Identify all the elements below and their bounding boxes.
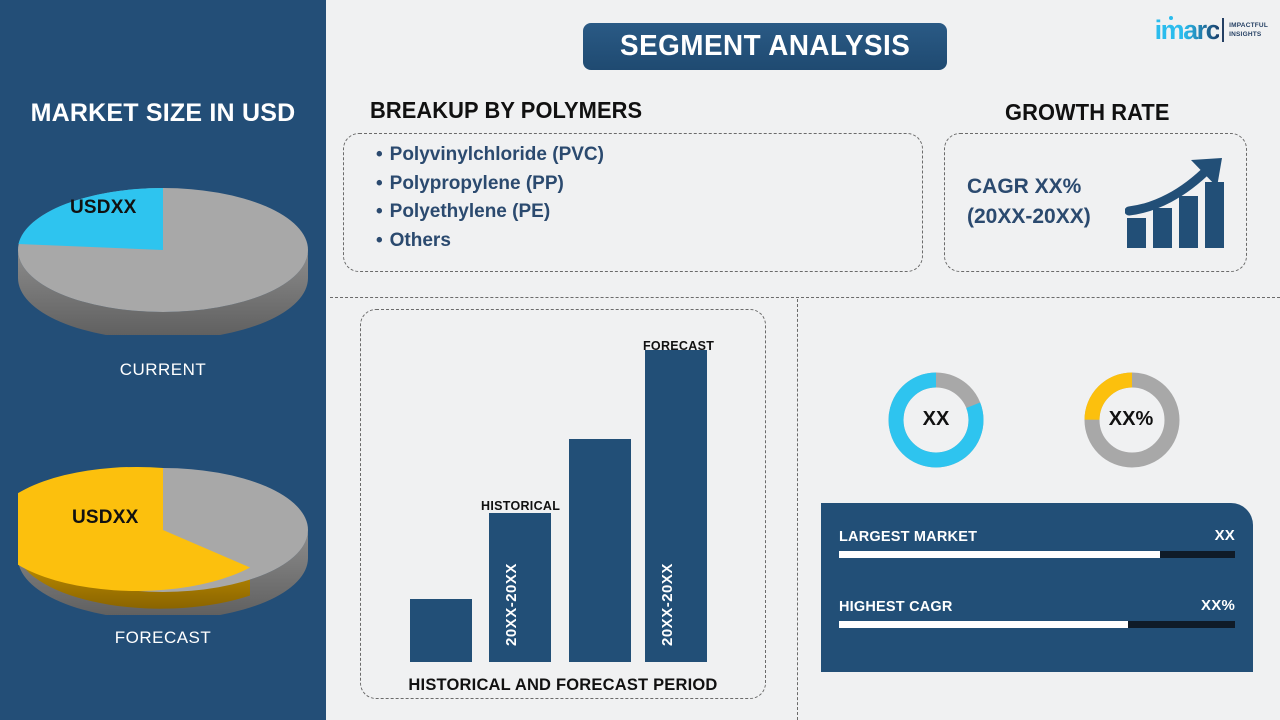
cagr-line-1: CAGR XX% bbox=[967, 172, 1091, 202]
list-item: Others bbox=[376, 227, 604, 256]
bar-2: 20XX-20XX bbox=[489, 513, 551, 662]
list-item: Polyethylene (PE) bbox=[376, 198, 604, 227]
cagr-text: CAGR XX% (20XX-20XX) bbox=[967, 172, 1091, 232]
bar-1 bbox=[410, 599, 472, 662]
current-pie-chart bbox=[18, 160, 308, 335]
forecast-pie-svg bbox=[18, 440, 308, 615]
growth-rate-box: CAGR XX% (20XX-20XX) bbox=[944, 133, 1247, 272]
vertical-divider bbox=[797, 299, 798, 720]
largest-market-progress-fill bbox=[839, 551, 1160, 558]
largest-market-label: LARGEST MARKET bbox=[839, 529, 977, 545]
polymers-heading: BREAKUP BY POLYMERS bbox=[370, 97, 642, 124]
bar-4-label: 20XX-20XX bbox=[659, 563, 676, 646]
highest-cagr-donut-value: XX% bbox=[1086, 408, 1176, 431]
logo-wordmark: imarc bbox=[1155, 15, 1220, 45]
polymers-box: Polyvinylchloride (PVC) Polypropylene (P… bbox=[343, 133, 923, 272]
cagr-line-2: (20XX-20XX) bbox=[967, 202, 1091, 232]
current-pie-svg bbox=[18, 160, 308, 335]
page-title: SEGMENT ANALYSIS bbox=[620, 30, 910, 63]
sidebar-title: MARKET SIZE IN USD bbox=[0, 99, 326, 128]
imarc-logo: imarc IMPACTFUL INSIGHTS bbox=[1155, 12, 1268, 48]
infographic-root: MARKET SIZE IN USD USDXX CURRENT bbox=[0, 0, 1280, 720]
growth-icon-svg bbox=[1125, 156, 1230, 251]
growth-rate-heading: GROWTH RATE bbox=[1005, 99, 1169, 126]
current-pie-value: USDXX bbox=[70, 197, 136, 219]
current-pie-label: CURRENT bbox=[0, 360, 326, 380]
list-item: Polypropylene (PP) bbox=[376, 170, 604, 199]
logo-tagline-line1: IMPACTFUL bbox=[1229, 21, 1268, 30]
logo-tagline: IMPACTFUL INSIGHTS bbox=[1229, 21, 1268, 39]
horizontal-divider bbox=[330, 297, 1280, 298]
bar-4: 20XX-20XX bbox=[645, 350, 707, 662]
logo-dot-icon bbox=[1169, 16, 1173, 20]
logo-divider bbox=[1222, 18, 1224, 42]
historical-annotation: HISTORICAL bbox=[481, 499, 560, 513]
largest-market-progress-track bbox=[839, 551, 1235, 558]
highest-cagr-value: XX% bbox=[1201, 597, 1235, 614]
sidebar: MARKET SIZE IN USD USDXX CURRENT bbox=[0, 0, 326, 720]
stats-panel: LARGEST MARKET XX HIGHEST CAGR XX% bbox=[821, 503, 1253, 672]
highest-cagr-progress-track bbox=[839, 621, 1235, 628]
forecast-pie-chart bbox=[18, 440, 308, 615]
page-title-banner: SEGMENT ANALYSIS bbox=[583, 23, 947, 70]
list-item: Polyvinylchloride (PVC) bbox=[376, 141, 604, 170]
barchart-caption: HISTORICAL AND FORECAST PERIOD bbox=[360, 676, 766, 695]
growth-arrow-chart-icon bbox=[1125, 156, 1230, 256]
forecast-annotation: FORECAST bbox=[643, 339, 714, 353]
polymers-list: Polyvinylchloride (PVC) Polypropylene (P… bbox=[376, 141, 604, 255]
highest-cagr-progress-fill bbox=[839, 621, 1128, 628]
bar-3 bbox=[569, 439, 631, 662]
largest-market-donut-value: XX bbox=[891, 408, 981, 431]
highest-cagr-label: HIGHEST CAGR bbox=[839, 599, 953, 615]
historical-forecast-barchart: 20XX-20XX HISTORICAL 20XX-20XX FORECAST … bbox=[360, 309, 766, 699]
largest-market-value: XX bbox=[1215, 527, 1235, 544]
forecast-pie-label: FORECAST bbox=[0, 628, 326, 648]
bar-2-label: 20XX-20XX bbox=[503, 563, 520, 646]
forecast-pie-value: USDXX bbox=[72, 507, 138, 529]
logo-tagline-line2: INSIGHTS bbox=[1229, 30, 1268, 39]
